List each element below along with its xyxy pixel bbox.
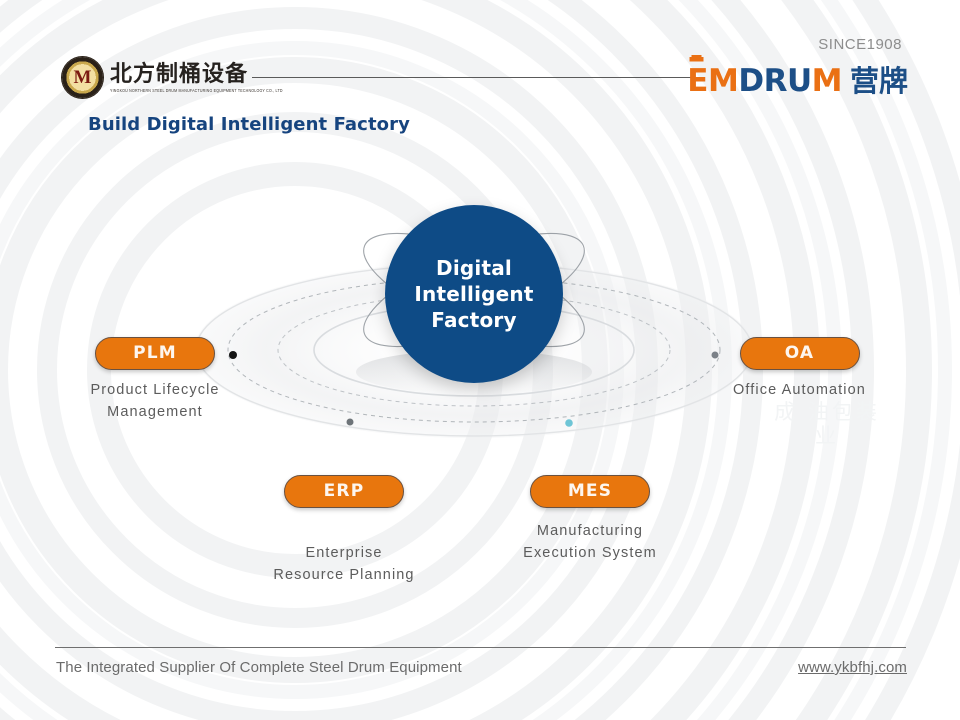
emdrum-e-wrapper: E <box>687 63 708 99</box>
company-name-en: YINGKOU NORTHERN STEEL DRUM MANUFACTURIN… <box>110 88 283 93</box>
orbit-dot-bottom-left <box>347 419 354 426</box>
node-plm-caption-line-1: Product Lifecycle <box>80 379 230 401</box>
node-oa-pill[interactable]: OA <box>740 337 860 370</box>
node-plm-pill[interactable]: PLM <box>95 337 215 370</box>
header-divider-line <box>252 77 692 78</box>
seal-letter: M <box>62 57 103 98</box>
core-label-line-2: Intelligent <box>414 281 533 307</box>
background-watermark-text: 成 油包装 业 <box>752 400 902 448</box>
page-title: Build Digital Intelligent Factory <box>88 114 410 135</box>
company-logo-left: M 北方制桶设备 YINGKOU NORTHERN STEEL DRUM MAN… <box>62 57 283 98</box>
company-name-cn: 北方制桶设备 <box>110 63 283 86</box>
crown-mark-icon <box>689 54 704 62</box>
node-erp-caption-line-1: Enterprise <box>268 542 420 564</box>
orbit-dot-right <box>712 352 719 359</box>
node-mes-caption-line-2: Execution System <box>514 542 666 564</box>
node-plm-caption: Product Lifecycle Management <box>80 379 230 423</box>
footer-divider-line <box>55 647 906 648</box>
orbit-dot-left <box>229 351 237 359</box>
node-oa-caption: Office Automation <box>722 379 877 401</box>
since-label: SINCE1908 <box>818 36 902 53</box>
slide-canvas: SINCE1908 M 北方制桶设备 YINGKOU NORTHERN STEE… <box>0 0 960 720</box>
node-erp-pill[interactable]: ERP <box>284 475 404 508</box>
emdrum-letters-dru: DRU <box>738 63 811 99</box>
emdrum-letter-e: E <box>687 63 708 99</box>
watermark-line-1: 成 油包装 <box>752 400 902 424</box>
node-erp-caption-line-2: Resource Planning <box>268 564 420 586</box>
emdrum-logo: E MDRUM 营牌 <box>687 58 908 100</box>
node-mes-pill[interactable]: MES <box>530 475 650 508</box>
node-oa[interactable]: OA Office Automation <box>722 337 877 401</box>
slide-header: SINCE1908 M 北方制桶设备 YINGKOU NORTHERN STEE… <box>0 0 960 110</box>
node-plm-caption-line-2: Management <box>80 401 230 423</box>
core-node-digital-intelligent-factory[interactable]: Digital Intelligent Factory <box>385 205 563 383</box>
watermark-line-2: 业 <box>752 424 902 448</box>
core-label-line-3: Factory <box>431 307 516 333</box>
emdrum-brand-cn: 营牌 <box>850 58 908 100</box>
node-mes-caption: Manufacturing Execution System <box>514 520 666 564</box>
orbit-dot-bottom-right <box>565 419 573 427</box>
emdrum-letter-m1: M <box>708 63 738 99</box>
node-erp-caption: Enterprise Resource Planning <box>268 542 420 586</box>
digital-factory-diagram: 成 油包装 业 Digital Intelligent Factory PLM … <box>0 150 960 620</box>
node-plm[interactable]: PLM Product Lifecycle Management <box>80 337 230 423</box>
footer-website-link[interactable]: www.ykbfhj.com <box>798 659 907 676</box>
node-erp[interactable]: ERP Enterprise Resource Planning <box>268 475 420 586</box>
core-label-line-1: Digital <box>436 255 512 281</box>
node-mes-caption-line-1: Manufacturing <box>514 520 666 542</box>
footer-tagline: The Integrated Supplier Of Complete Stee… <box>56 659 462 676</box>
emdrum-letter-m2: M <box>812 63 842 99</box>
node-oa-caption-line-1: Office Automation <box>722 379 877 401</box>
node-mes[interactable]: MES Manufacturing Execution System <box>514 475 666 564</box>
seal-emblem-icon: M <box>62 57 103 98</box>
